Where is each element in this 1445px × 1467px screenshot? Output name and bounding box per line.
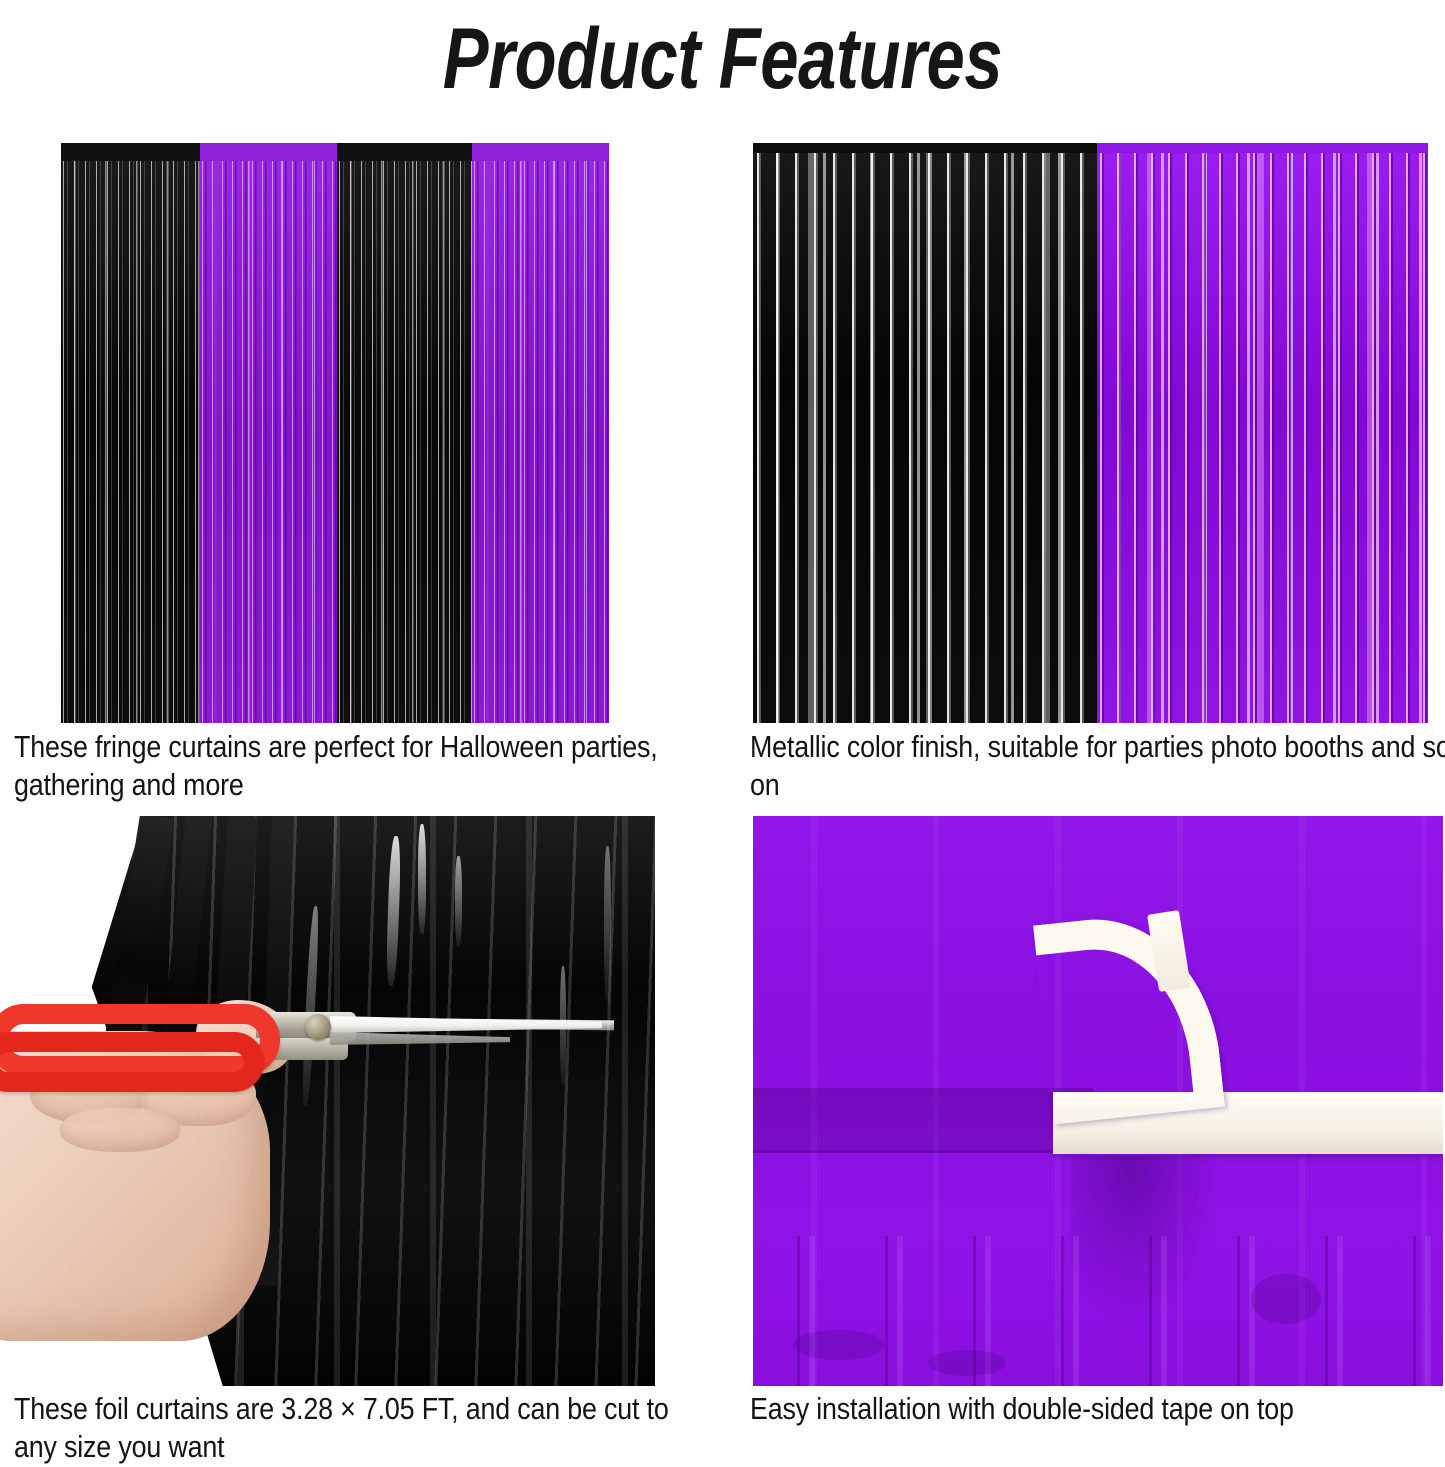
foil-gloss-highlight xyxy=(604,846,611,1006)
foil-gloss-highlight xyxy=(418,824,426,934)
curtain-half-purple xyxy=(1097,143,1428,723)
foil-crease xyxy=(1251,1274,1321,1324)
curtain-panel-purple-2 xyxy=(472,143,609,723)
feature-cell-cuttable-size: These foil curtains are 3.28 × 7.05 FT, … xyxy=(0,808,730,1464)
purple-curtain-double-sided-tape-photo xyxy=(753,816,1443,1386)
page-title: Product Features xyxy=(145,0,1301,118)
curtain-fringe-strands xyxy=(753,153,1097,723)
scissors-pivot-screw xyxy=(305,1014,331,1040)
curtain-half-black xyxy=(753,143,1097,723)
feature-caption-double-sided-tape-install: Easy installation with double-sided tape… xyxy=(750,1390,1445,1428)
feature-cell-double-sided-tape-install: Easy installation with double-sided tape… xyxy=(730,808,1445,1464)
purple-fringe-cuts xyxy=(753,1236,1443,1386)
hand-cutting-foil-curtain-with-scissors-photo xyxy=(0,816,655,1386)
curtain-fringe-strands xyxy=(1097,153,1428,723)
black-purple-fringe-closeup-photo xyxy=(753,143,1428,723)
curtain-seam-band xyxy=(753,1088,1093,1150)
feature-caption-metallic-color-finish: Metallic color finish, suitable for part… xyxy=(750,728,1445,805)
feature-caption-cuttable-size: These foil curtains are 3.28 × 7.05 FT, … xyxy=(14,1390,718,1467)
scissors-handle xyxy=(0,1032,264,1092)
foil-crease xyxy=(928,1350,1006,1376)
feature-caption-fringe-curtains-halloween: These fringe curtains are perfect for Ha… xyxy=(14,728,736,805)
curtain-panel-black-1 xyxy=(61,143,200,723)
feature-cell-metallic-color-finish: Metallic color finish, suitable for part… xyxy=(730,118,1445,808)
curtain-fringe-strands xyxy=(472,161,609,723)
curtain-fringe-strands xyxy=(200,161,337,723)
curtain-panel-black-2 xyxy=(337,143,472,723)
foil-crease xyxy=(793,1330,885,1360)
feature-cell-fringe-curtains-halloween: These fringe curtains are perfect for Ha… xyxy=(0,118,730,808)
four-panel-fringe-curtains-photo xyxy=(61,143,609,723)
curtain-panel-purple-1 xyxy=(200,143,337,723)
features-grid: These fringe curtains are perfect for Ha… xyxy=(0,118,1445,1464)
curtain-fringe-strands xyxy=(337,161,472,723)
foil-gloss-highlight xyxy=(455,856,462,946)
finger xyxy=(60,1108,180,1152)
curtain-fringe-strands xyxy=(61,161,200,723)
